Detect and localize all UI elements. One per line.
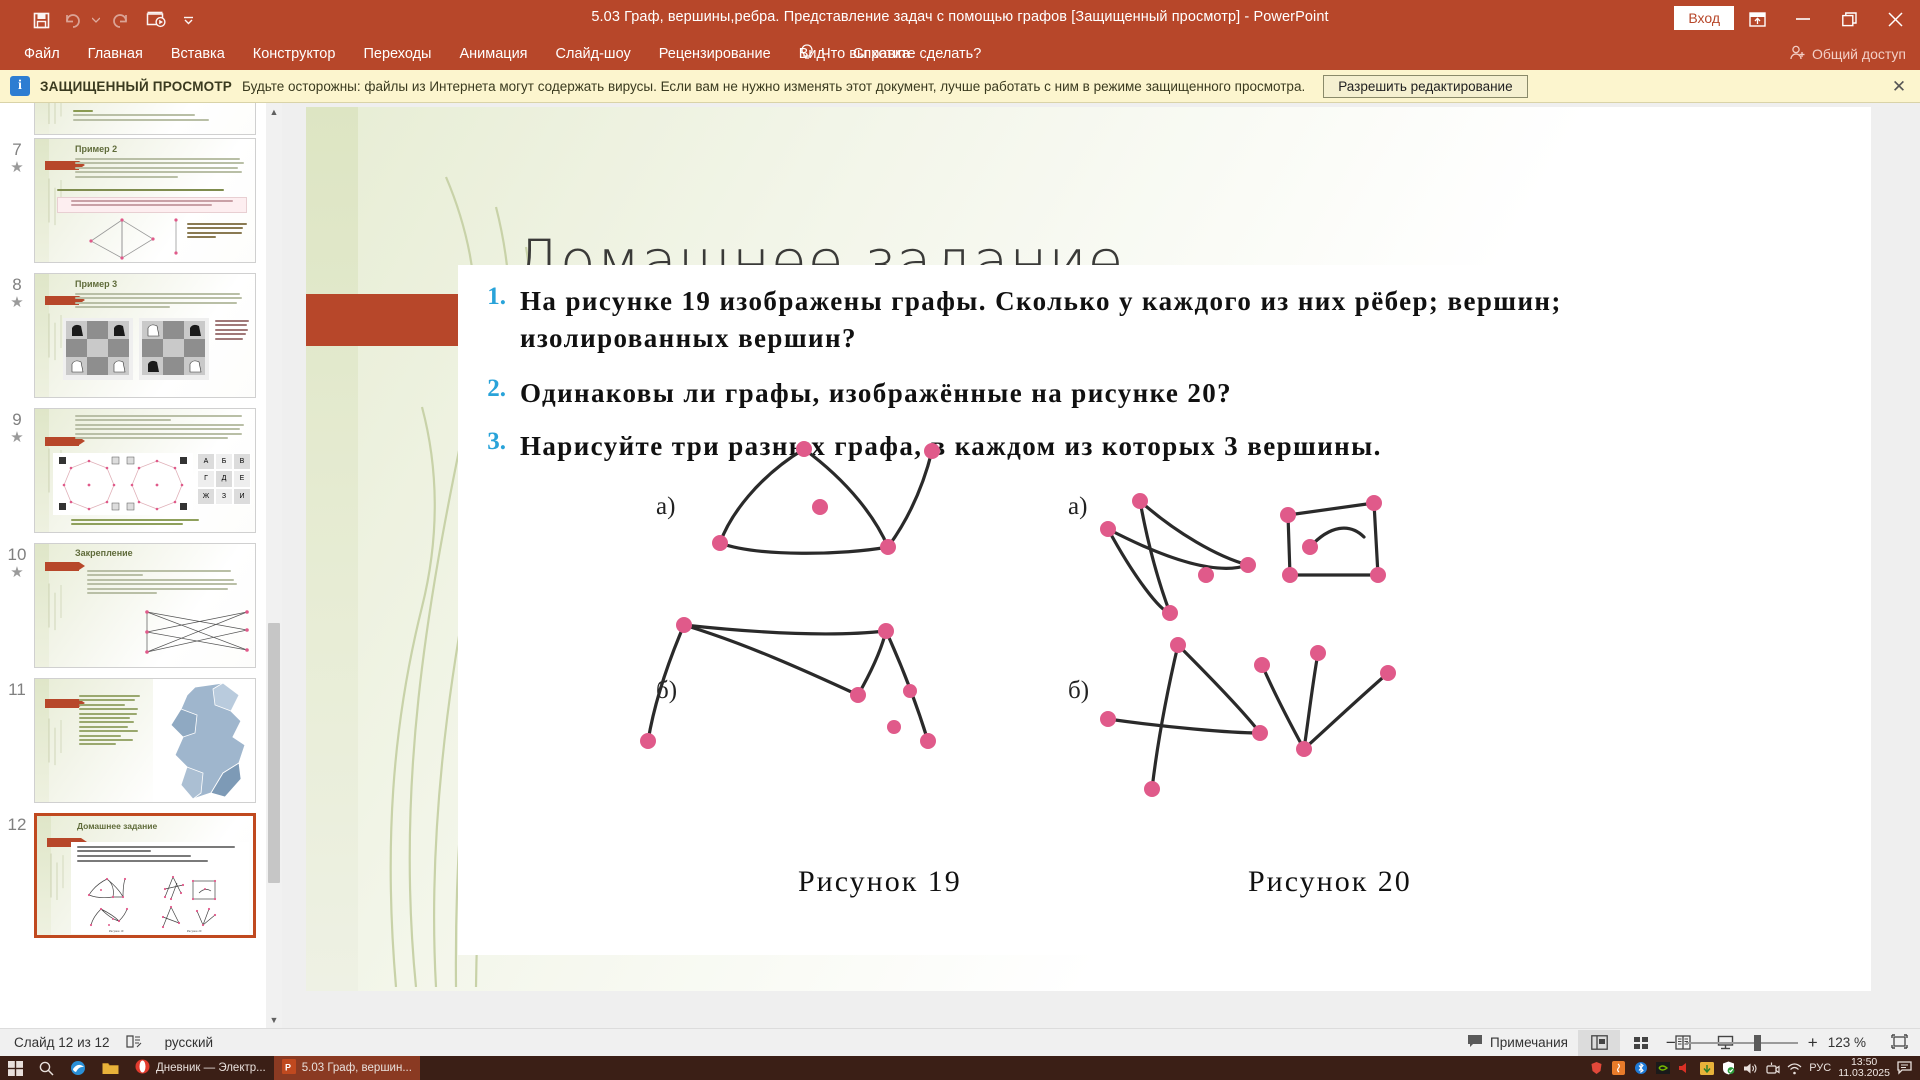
thumbnail-number: 10 ★	[0, 543, 34, 668]
tab-transitions[interactable]: Переходы	[349, 40, 445, 68]
svg-text:Рисунок 19: Рисунок 19	[109, 929, 124, 933]
search-button[interactable]	[31, 1056, 62, 1080]
thumbnail-image[interactable]: Пример 2	[34, 138, 256, 263]
brave-icon[interactable]	[1589, 1061, 1604, 1076]
volume-icon[interactable]	[1743, 1061, 1758, 1076]
octagon-graph-start	[57, 455, 121, 513]
thumbnail-slide-7[interactable]: 7 ★ Пример 2	[0, 138, 266, 263]
share-label: Общий доступ	[1812, 46, 1906, 62]
title-bar: 5.03 Граф, вершины,ребра. Представление …	[0, 0, 1920, 38]
wifi-icon[interactable]	[1787, 1061, 1802, 1076]
thumbnail-slide-9[interactable]: 9 ★	[0, 408, 266, 533]
animation-star-icon: ★	[0, 430, 34, 445]
taskbar-window-label: 5.03 Граф, вершин...	[302, 1062, 412, 1074]
zoom-in-button[interactable]: +	[1808, 1033, 1818, 1053]
protected-view-message: Будьте осторожны: файлы из Интернета мог…	[242, 79, 1305, 94]
language-indicator-tray[interactable]: РУС	[1809, 1062, 1831, 1074]
close-icon[interactable]: ✕	[1890, 77, 1908, 97]
start-button[interactable]	[0, 1056, 31, 1080]
java-icon[interactable]	[1611, 1061, 1626, 1076]
tell-me-search[interactable]: Что вы хотите сделать?	[800, 38, 981, 70]
slide-stage: Домашнее задание 1. На рисунке 19 изобра…	[282, 103, 1920, 1028]
thumbnail-number	[0, 103, 34, 135]
animation-star-icon: ★	[0, 295, 34, 310]
slide-counter: Слайд 12 из 12	[14, 1035, 110, 1050]
scroll-down-icon[interactable]: ▼	[266, 1011, 282, 1028]
update-icon[interactable]	[1699, 1061, 1714, 1076]
zoom-percent-label[interactable]: 123 %	[1828, 1035, 1866, 1050]
protected-view-bar: i ЗАЩИЩЕННЫЙ ПРОСМОТР Будьте осторожны: …	[0, 70, 1920, 103]
spellcheck-icon[interactable]	[126, 1034, 143, 1052]
thumbnail-slide-8[interactable]: 8 ★ Пример 3	[0, 273, 266, 398]
file-explorer-button[interactable]	[94, 1056, 127, 1080]
scrollbar-thumb[interactable]	[268, 623, 280, 883]
octagon-graph-finish	[125, 455, 189, 513]
title-accent-arrow	[306, 294, 478, 346]
nvidia-icon[interactable]	[1655, 1061, 1670, 1076]
opera-icon	[135, 1059, 150, 1077]
graph-figures	[458, 265, 1698, 955]
thumb-title: Домашнее задание	[77, 821, 157, 831]
powerpoint-icon: P	[282, 1059, 296, 1077]
current-slide[interactable]: Домашнее задание 1. На рисунке 19 изобра…	[306, 107, 1871, 991]
thumbnail-number: 12	[0, 813, 34, 938]
edge-button[interactable]	[62, 1056, 94, 1080]
enable-editing-button[interactable]: Разрешить редактирование	[1323, 75, 1527, 98]
thumbnail-image[interactable]: Домашнее задание	[34, 813, 256, 938]
thumbnail-slide-6[interactable]	[0, 103, 266, 135]
thumbnail-image[interactable]: Закрепление	[34, 543, 256, 668]
crossing-graph	[143, 608, 253, 658]
tab-review[interactable]: Рецензирование	[645, 40, 785, 68]
clock[interactable]: 13:50 11.03.2025	[1838, 1057, 1890, 1079]
notes-label: Примечания	[1490, 1035, 1568, 1050]
protected-view-badge: ЗАЩИЩЕННЫЙ ПРОСМОТР	[40, 79, 232, 94]
workspace: 7 ★ Пример 2	[0, 103, 1920, 1028]
system-tray: РУС 13:50 11.03.2025	[1589, 1056, 1920, 1080]
animation-star-icon: ★	[0, 160, 34, 175]
window-title: 5.03 Граф, вершины,ребра. Представление …	[0, 9, 1920, 25]
slide-thumbnail-panel[interactable]: 7 ★ Пример 2	[0, 103, 282, 1028]
zoom-slider-knob[interactable]	[1754, 1035, 1761, 1051]
thumbnail-number: 8 ★	[0, 273, 34, 398]
taskbar-window-opera[interactable]: Дневник — Электр...	[127, 1056, 274, 1080]
svg-text:P: P	[285, 1063, 291, 1073]
minimize-button[interactable]	[1780, 4, 1826, 34]
animation-star-icon: ★	[0, 565, 34, 580]
speaker-red-icon[interactable]	[1677, 1061, 1692, 1076]
zoom-controls[interactable]: − + 123 %	[1666, 1033, 1866, 1053]
info-icon: i	[10, 76, 30, 96]
tab-file[interactable]: Файл	[10, 40, 74, 68]
notes-button[interactable]: Примечания	[1467, 1034, 1568, 1051]
content-card: 1. На рисунке 19 изображены графы. Сколь…	[458, 265, 1698, 955]
fit-slide-to-window-button[interactable]	[1891, 1034, 1908, 1052]
zoom-slider[interactable]	[1686, 1042, 1798, 1044]
ribbon-tab-bar: Файл Главная Вставка Конструктор Переход…	[0, 38, 1920, 70]
share-button[interactable]: Общий доступ	[1790, 38, 1906, 70]
chessboard-finish	[139, 318, 209, 380]
taskbar-window-powerpoint[interactable]: P 5.03 Граф, вершин...	[274, 1056, 420, 1080]
normal-view-button[interactable]	[1578, 1030, 1620, 1056]
bluetooth-icon[interactable]	[1633, 1061, 1648, 1076]
thumb-title: Закрепление	[75, 548, 133, 558]
svg-text:Рисунок 20: Рисунок 20	[187, 929, 202, 933]
tab-insert[interactable]: Вставка	[157, 40, 239, 68]
thumbnail-scrollbar[interactable]: ▲ ▼	[266, 103, 282, 1028]
thumbnail-number: 7 ★	[0, 138, 34, 263]
comment-icon	[1467, 1034, 1483, 1051]
security-shield-icon[interactable]	[1721, 1061, 1736, 1076]
thumbnail-image[interactable]	[34, 678, 256, 803]
thumbnail-slide-10[interactable]: 10 ★ Закрепление	[0, 543, 266, 668]
lightbulb-icon	[800, 44, 814, 65]
zoom-out-button[interactable]: −	[1666, 1033, 1676, 1053]
person-add-icon	[1790, 45, 1806, 63]
thumbnail-number: 9 ★	[0, 408, 34, 533]
slide-sorter-button[interactable]	[1620, 1030, 1662, 1056]
thumb-title: Пример 3	[75, 279, 117, 289]
taskbar: Дневник — Электр... P 5.03 Граф, вершин.…	[0, 1056, 1920, 1080]
thumbnail-image[interactable]: Пример 3	[34, 273, 256, 398]
clock-date: 11.03.2025	[1838, 1068, 1890, 1079]
restore-button[interactable]	[1826, 4, 1872, 34]
sign-in-button[interactable]: Вход	[1674, 6, 1734, 30]
tab-slideshow[interactable]: Слайд-шоу	[542, 40, 645, 68]
close-button[interactable]	[1872, 4, 1918, 34]
camera-icon[interactable]	[1765, 1061, 1780, 1076]
scroll-up-icon[interactable]: ▲	[266, 103, 282, 120]
thumbnail-slide-11[interactable]: 11	[0, 678, 266, 803]
action-center-icon[interactable]	[1897, 1061, 1912, 1076]
far-east-map	[153, 681, 256, 803]
thumbnail-image[interactable]: А Б В Г Д Е Ж З И	[34, 408, 256, 533]
thumbnail-image[interactable]	[34, 103, 256, 135]
thumbnail-slide-12[interactable]: 12 Домашнее задание	[0, 813, 266, 938]
tab-animations[interactable]: Анимация	[445, 40, 541, 68]
tab-design[interactable]: Конструктор	[239, 40, 350, 68]
thumbnail-number: 11	[0, 678, 34, 803]
ribbon-display-options-icon[interactable]	[1734, 4, 1780, 34]
thumb-title: Пример 2	[75, 144, 117, 154]
ribbon-tabs: Файл Главная Вставка Конструктор Переход…	[10, 38, 924, 70]
thumb-graph-figures: Рисунок 19 Рисунок 20	[79, 871, 247, 933]
status-bar: Слайд 12 из 12 русский Примечания − + 12…	[0, 1028, 1920, 1056]
language-indicator[interactable]: русский	[165, 1035, 213, 1050]
taskbar-window-label: Дневник — Электр...	[156, 1062, 266, 1074]
tab-home[interactable]: Главная	[74, 40, 157, 68]
chessboard-start	[63, 318, 133, 380]
tell-me-label: Что вы хотите сделать?	[821, 46, 981, 62]
letters-table: А Б В Г Д Е Ж З И	[197, 453, 251, 505]
slide-left-band	[306, 107, 358, 991]
